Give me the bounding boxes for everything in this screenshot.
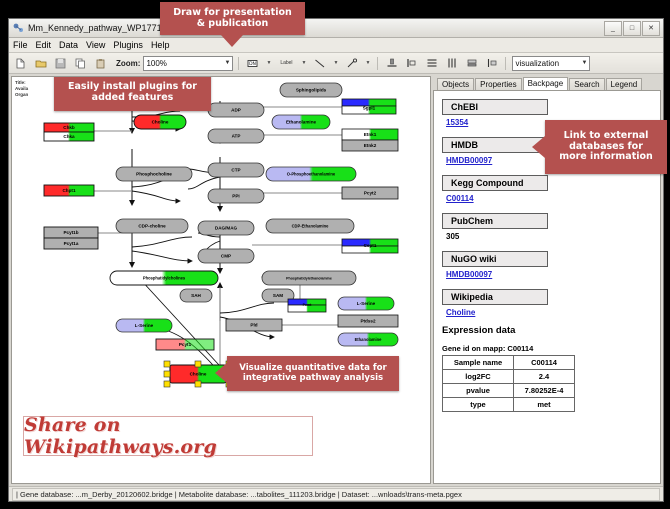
svg-text:Ethanolamine: Ethanolamine [286,120,317,125]
callout-visualize-line2: integrative pathway analysis [239,374,387,384]
share-banner: Share on Wikipathways.org [23,416,313,456]
node-sphingolipids: Sphingolipids [280,83,342,97]
gene-box-pemt: Pemt [288,299,326,312]
screenshot-root: Mm_Kennedy_pathway_WP1771_45176.gpml _ □… [0,0,670,509]
svg-text:Pemt: Pemt [303,303,313,307]
gene-id-line: Gene id on mapp: C00114 [442,344,652,353]
toolbar-separator-2 [377,57,378,70]
save-icon[interactable] [52,55,69,72]
tab-objects[interactable]: Objects [437,78,474,90]
node-phosphocholine: Phosphocholine [116,167,192,181]
svg-text:L-Serine: L-Serine [357,301,376,306]
cell-log2fc-value: 2.4 [514,370,575,384]
svg-text:Phosphatidylcholines: Phosphatidylcholines [143,276,186,281]
gene-box-cept1: Cept1 [342,239,398,253]
status-bar: | Gene database: ...m_Derby_20120602.bri… [9,486,663,501]
svg-text:Chka: Chka [63,134,75,139]
pubchem-value: 305 [446,232,652,241]
open-folder-icon[interactable] [32,55,49,72]
svg-text:ADP: ADP [231,108,241,113]
cell-type-label: type [443,398,514,412]
window-controls[interactable]: _ □ ✕ [604,21,660,36]
interaction-dropdown-icon[interactable]: ▼ [363,55,372,72]
svg-text:Pcyt2: Pcyt2 [364,191,377,196]
toolbar-separator-3 [505,57,506,70]
pathvisio-icon [12,22,24,34]
kegg-link[interactable]: C00114 [446,194,652,203]
node-l-serine-left: L-Serine [116,319,172,332]
svg-text:Phosphatidylethanolamine: Phosphatidylethanolamine [286,276,332,280]
callout-link-line1: Link to external [559,131,653,142]
minimize-button[interactable]: _ [604,21,622,36]
pathvisio-window: Mm_Kennedy_pathway_WP1771_45176.gpml _ □… [8,18,664,502]
menu-item-help[interactable]: Help [151,40,170,50]
align-bottom-icon[interactable] [383,55,400,72]
gene-box-sgpl1: Sgpl1 [342,99,396,114]
svg-text:DAG/MAG: DAG/MAG [215,226,238,231]
svg-text:CTP: CTP [231,168,240,173]
svg-text:CDP-Ethanolamine: CDP-Ethanolamine [292,224,330,229]
tab-backpage[interactable]: Backpage [523,77,569,90]
table-row: type met [443,398,575,412]
section-title-pubchem: PubChem [442,213,548,229]
svg-text:L-Serine: L-Serine [135,323,154,328]
callout-draw-line1: Draw for presentation [173,8,292,19]
gene-box-pcyt2: Pcyt2 [342,187,398,199]
expression-data-heading: Expression data [442,325,652,336]
svg-text:CMP: CMP [221,254,231,259]
datanode-icon[interactable]: DN [244,55,261,72]
gene-box-pcyt1b-pcyt1a: Pcyt1b Pcyt1a [44,227,98,249]
svg-text:PPi: PPi [232,194,239,199]
maximize-button[interactable]: □ [623,21,641,36]
svg-text:Pcyt1: Pcyt1 [179,342,192,347]
svg-text:Chpt1: Chpt1 [62,188,75,193]
svg-text:Etnk2: Etnk2 [364,143,377,148]
group-icon[interactable] [483,55,500,72]
node-ppi: PPi [208,189,264,203]
callout-visualize: Visualize quantitative data for integrat… [227,356,399,391]
svg-text:Chkb: Chkb [63,125,75,130]
svg-text:Pcyt1b: Pcyt1b [63,230,78,235]
svg-text:Choline: Choline [152,120,169,125]
node-cdp-ethanolamine: CDP-Ethanolamine [266,219,354,233]
table-row: log2FC 2.4 [443,370,575,384]
svg-text:Ethanolamine: Ethanolamine [355,337,383,342]
label-tool[interactable]: Label [276,55,296,72]
align-left-icon[interactable] [403,55,420,72]
zoom-value: 100% [146,59,166,68]
menu-item-file[interactable]: File [13,40,28,50]
gene-box-chkb-chka: Chkb Chka [44,123,94,141]
gene-box-chpt1: Chpt1 [44,185,94,196]
menu-item-view[interactable]: View [86,40,105,50]
cell-sample-name-value: C00114 [514,356,575,370]
svg-text:DN: DN [250,61,257,67]
copy-icon[interactable] [72,55,89,72]
gene-box-etnk1-etnk2: Etnk1 Etnk2 [342,129,398,151]
node-dagmag: DAG/MAG [198,221,254,235]
svg-text:Choline: Choline [190,372,207,377]
node-phosphatidylcholines: Phosphatidylcholines [110,271,218,285]
callout-link: Link to external databases for more info… [545,120,667,174]
distribute-vertical-icon[interactable] [423,55,440,72]
tab-search[interactable]: Search [569,78,604,90]
menu-item-edit[interactable]: Edit [36,40,52,50]
cell-pvalue-label: pvalue [443,384,514,398]
gene-box-pcyt1: Pcyt1 [156,339,214,350]
callout-plugins-line2: added features [68,93,197,104]
gene-box-pld: Pld [226,319,282,331]
node-phosphatidylethanolamine: Phosphatidylethanolamine [262,271,356,285]
nugo-link[interactable]: HMDB00097 [446,270,652,279]
svg-text:SAM: SAM [273,293,283,298]
pathway-canvas[interactable]: Title: Availa Organ [11,76,431,484]
node-ethanolamine-1: Ethanolamine [272,115,330,129]
menu-bar: File Edit Data View Plugins Help [9,38,663,53]
svg-text:CDP-choline: CDP-choline [138,224,166,229]
zoom-combo[interactable]: 100% ▼ [143,56,233,71]
node-adp: ADP [208,103,264,117]
cell-log2fc-label: log2FC [443,370,514,384]
node-cmp: CMP [198,249,254,263]
stack-icon[interactable] [463,55,480,72]
svg-text:Sphingolipids: Sphingolipids [296,88,327,93]
visualization-combo[interactable]: visualization ▼ [512,56,590,71]
callout-visualize-arrow [215,362,228,384]
expression-table: Sample name C00114 log2FC 2.4 pvalue 7.8… [442,355,575,412]
new-document-icon[interactable] [12,55,29,72]
line-dropdown-icon[interactable]: ▼ [331,55,340,72]
datanode-dropdown-icon[interactable]: ▼ [264,55,273,72]
section-title-wikipedia: Wikipedia [442,289,548,305]
cell-type-value: met [514,398,575,412]
svg-text:O-Phosphoethanolamine: O-Phosphoethanolamine [287,172,336,177]
svg-text:Pcyt1a: Pcyt1a [64,241,79,246]
callout-link-arrow [532,136,545,158]
sidebar-tab-strip: Objects Properties Backpage Search Legen… [433,76,661,90]
svg-text:ATP: ATP [232,134,241,139]
svg-text:Etnk1: Etnk1 [364,132,377,137]
svg-text:Cept1: Cept1 [364,243,377,248]
chevron-down-icon-2: ▼ [577,60,587,66]
menu-item-plugins[interactable]: Plugins [113,40,143,50]
zoom-label: Zoom: [116,59,140,68]
svg-text:Pld: Pld [250,323,257,328]
node-atp: ATP [208,129,264,143]
distribute-horizontal-icon[interactable] [443,55,460,72]
svg-text:Ptdss2: Ptdss2 [360,319,376,324]
label-tool-text: Label [280,60,292,66]
tab-properties[interactable]: Properties [475,78,521,90]
visualization-value: visualization [515,59,559,68]
node-o-phosphoethanolamine: O-Phosphoethanolamine [266,167,356,181]
chevron-down-icon: ▼ [220,60,230,66]
close-button[interactable]: ✕ [642,21,660,36]
callout-draw-arrow [221,35,243,47]
svg-text:Sgpl1: Sgpl1 [363,106,376,111]
status-bar-text: | Gene database: ...m_Derby_20120602.bri… [12,488,660,501]
toolbar: Zoom: 100% ▼ DN ▼ Label ▼ ▼ ▼ [9,53,663,74]
cell-sample-name-label: Sample name [443,356,514,370]
label-dropdown-icon[interactable]: ▼ [299,55,308,72]
callout-draw: Draw for presentation & publication [160,2,305,35]
section-title-chebi: ChEBI [442,99,548,115]
paste-icon[interactable] [92,55,109,72]
table-row: pvalue 7.80252E-4 [443,384,575,398]
title-bar: Mm_Kennedy_pathway_WP1771_45176.gpml _ □… [9,19,663,38]
callout-link-line3: more information [559,152,653,163]
table-row: Sample name C00114 [443,356,575,370]
share-banner-text: Share on Wikipathways.org [24,414,312,458]
section-title-kegg: Kegg Compound [442,175,548,191]
node-sah: SAH [180,289,212,302]
cell-pvalue-value: 7.80252E-4 [514,384,575,398]
menu-item-data[interactable]: Data [59,40,78,50]
section-title-nugo: NuGO wiki [442,251,548,267]
wikipedia-link[interactable]: Choline [446,308,652,317]
node-ctp: CTP [208,163,264,177]
node-l-serine-right: L-Serine [338,297,394,310]
node-ethanolamine-2: Ethanolamine [338,333,398,346]
line-icon[interactable] [311,55,328,72]
toolbar-separator [238,57,239,70]
callout-plugins: Easily install plugins for added feature… [54,76,211,111]
callout-draw-line2: & publication [173,19,292,30]
node-choline-top: Choline [134,115,186,129]
interaction-icon[interactable] [343,55,360,72]
node-cdp-choline: CDP-choline [116,219,188,233]
gene-box-ptdss2: Ptdss2 [338,315,398,327]
svg-text:SAH: SAH [191,293,201,298]
svg-text:Phosphocholine: Phosphocholine [136,172,172,177]
tab-legend[interactable]: Legend [606,78,643,90]
